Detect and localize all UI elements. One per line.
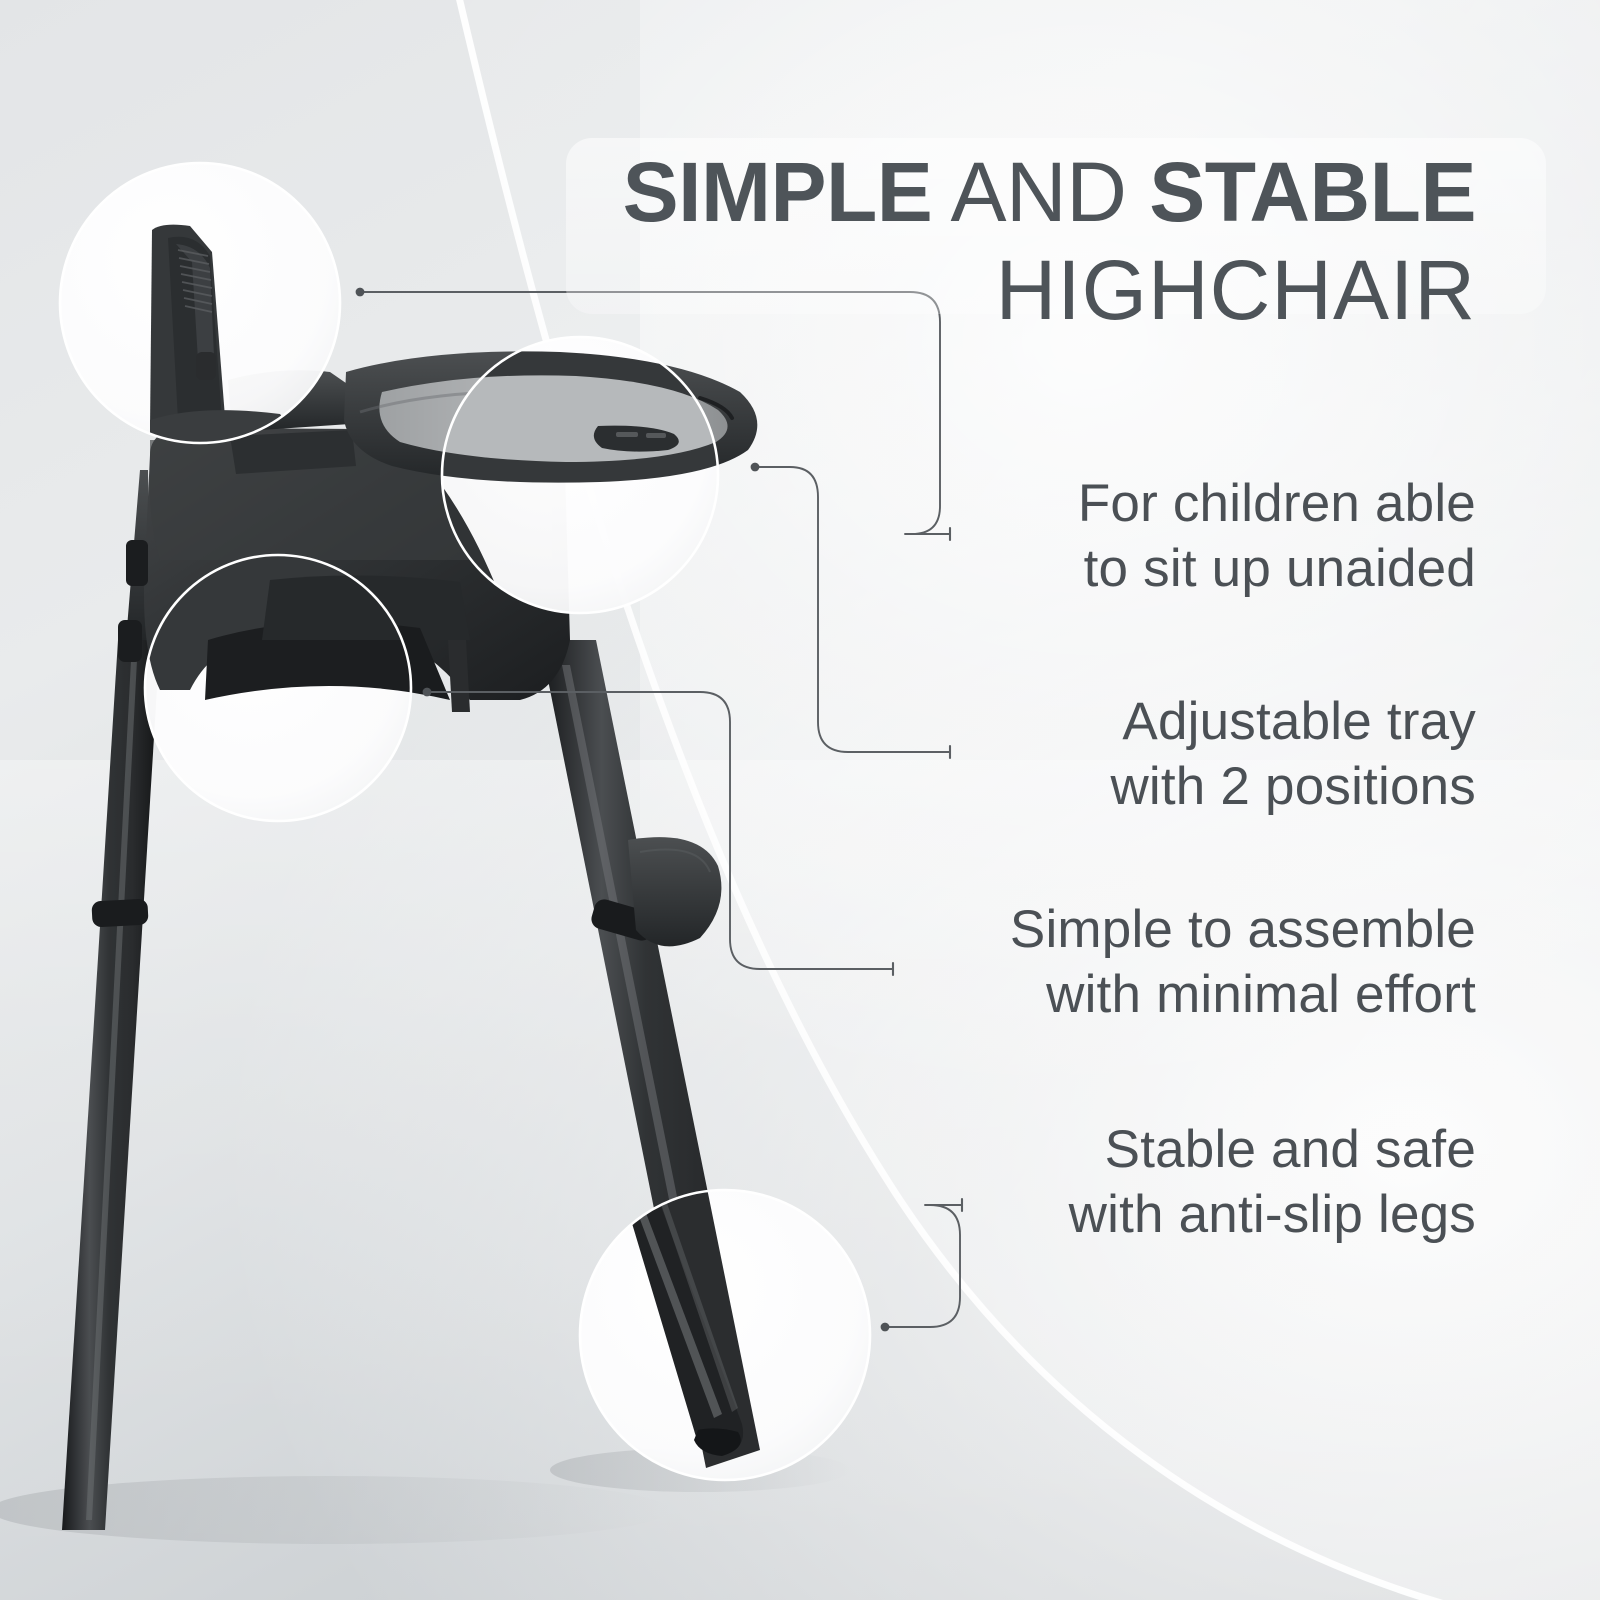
feature-line: with minimal effort bbox=[716, 963, 1476, 1028]
feature-line: with 2 positions bbox=[716, 755, 1476, 820]
feature-adjustable-tray: Adjustable tray with 2 positions bbox=[716, 690, 1476, 819]
title-word-stable: STABLE bbox=[1149, 145, 1476, 239]
feature-for-children: For children able to sit up unaided bbox=[716, 472, 1476, 601]
title-word-simple: SIMPLE bbox=[623, 145, 933, 239]
infographic-canvas: SIMPLE AND STABLE HIGHCHAIR For children… bbox=[0, 0, 1600, 1600]
feature-simple-assembly: Simple to assemble with minimal effort bbox=[716, 898, 1476, 1027]
feature-anti-slip-legs: Stable and safe with anti-slip legs bbox=[716, 1118, 1476, 1247]
page-title: SIMPLE AND STABLE HIGHCHAIR bbox=[376, 150, 1476, 333]
title-line-1: SIMPLE AND STABLE bbox=[376, 150, 1476, 236]
title-line-2: HIGHCHAIR bbox=[376, 248, 1476, 334]
feature-line: with anti-slip legs bbox=[716, 1183, 1476, 1248]
feature-line: For children able bbox=[716, 472, 1476, 537]
feature-line: Adjustable tray bbox=[716, 690, 1476, 755]
feature-line: to sit up unaided bbox=[716, 537, 1476, 602]
title-word-and: AND bbox=[932, 145, 1149, 239]
feature-line: Simple to assemble bbox=[716, 898, 1476, 963]
feature-line: Stable and safe bbox=[716, 1118, 1476, 1183]
